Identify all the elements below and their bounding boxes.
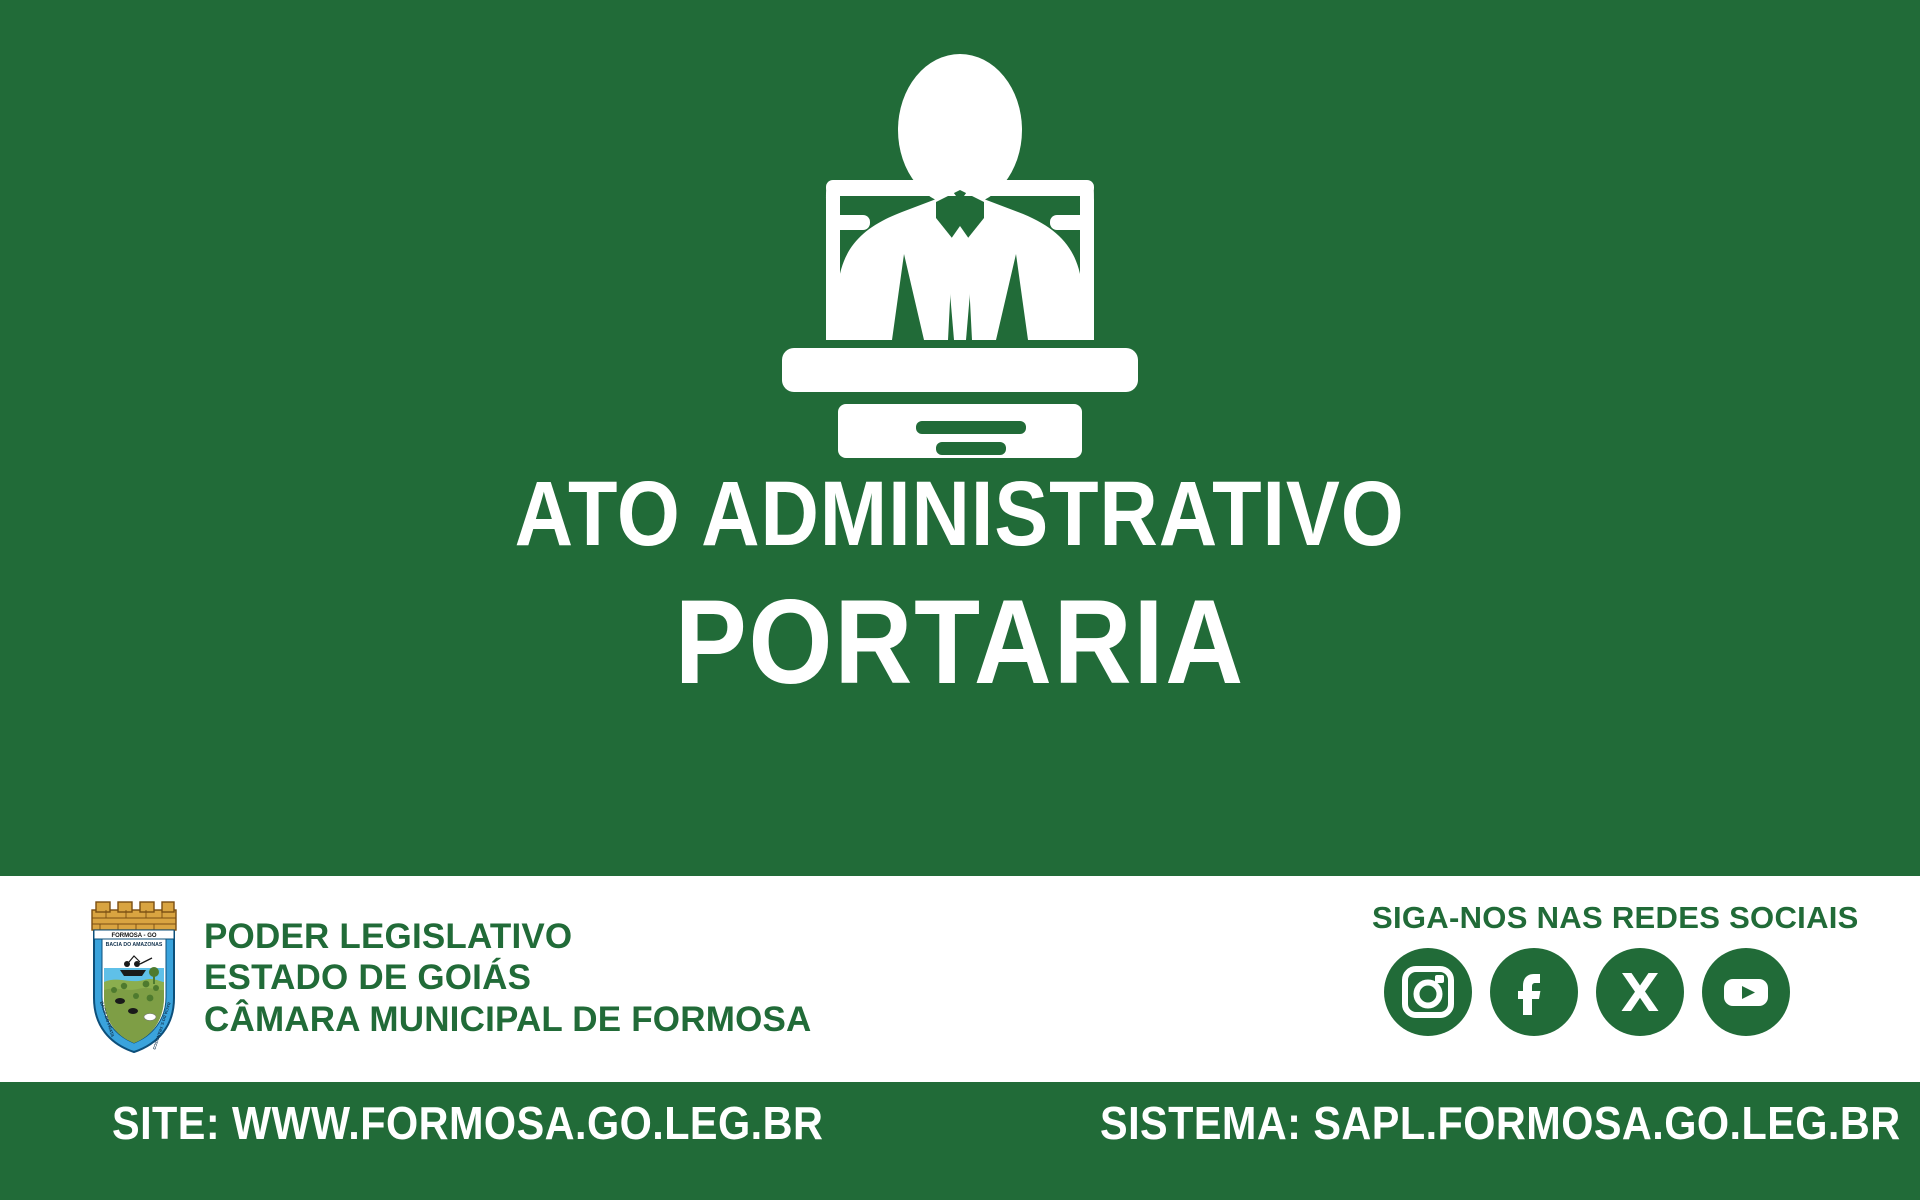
crest-band-text: FORMOSA - GO	[111, 933, 156, 939]
social-link-facebook[interactable]	[1490, 948, 1578, 1036]
youtube-icon	[1719, 965, 1773, 1019]
x-twitter-icon	[1613, 965, 1667, 1019]
formosa-coat-of-arms: FORMOSA - GO BACIA DO AMAZONAS BACIA DO …	[88, 898, 180, 1058]
instagram-icon	[1401, 965, 1455, 1019]
brand-lines: PODER LEGISLATIVO ESTADO DE GOIÁS CÂMARA…	[204, 916, 812, 1040]
page-title: ATO ADMINISTRATIVO	[515, 468, 1405, 560]
social-link-youtube[interactable]	[1702, 948, 1790, 1036]
bottom-bar: SITE: WWW.FORMOSA.GO.LEG.BR SISTEMA: SAP…	[0, 1082, 1920, 1200]
speaker-at-podium-icon	[760, 40, 1160, 460]
social-link-instagram[interactable]	[1384, 948, 1472, 1036]
brand-line-poder-legislativo: PODER LEGISLATIVO	[204, 916, 812, 957]
social-icon-list	[1372, 948, 1802, 1036]
social-heading: SIGA-NOS NAS REDES SOCIAIS	[1372, 900, 1802, 936]
facebook-icon	[1507, 965, 1561, 1019]
system-url-text: SISTEMA: SAPL.FORMOSA.GO.LEG.BR	[1100, 1096, 1901, 1150]
brand-block: FORMOSA - GO BACIA DO AMAZONAS BACIA DO …	[88, 898, 812, 1058]
hero-section: ATO ADMINISTRATIVO PORTARIA	[0, 0, 1920, 876]
social-block: SIGA-NOS NAS REDES SOCIAIS	[1372, 900, 1802, 1036]
brand-line-estado-de-goias: ESTADO DE GOIÁS	[204, 957, 812, 998]
page-subtitle: PORTARIA	[675, 582, 1245, 702]
social-link-x-twitter[interactable]	[1596, 948, 1684, 1036]
crest-upper-motto: BACIA DO AMAZONAS	[106, 942, 163, 948]
site-url-text: SITE: WWW.FORMOSA.GO.LEG.BR	[112, 1096, 823, 1150]
footer-band: FORMOSA - GO BACIA DO AMAZONAS BACIA DO …	[0, 876, 1920, 1082]
brand-line-camara-municipal: CÂMARA MUNICIPAL DE FORMOSA	[204, 999, 812, 1040]
poster: ATO ADMINISTRATIVO PORTARIA	[0, 0, 1920, 1200]
